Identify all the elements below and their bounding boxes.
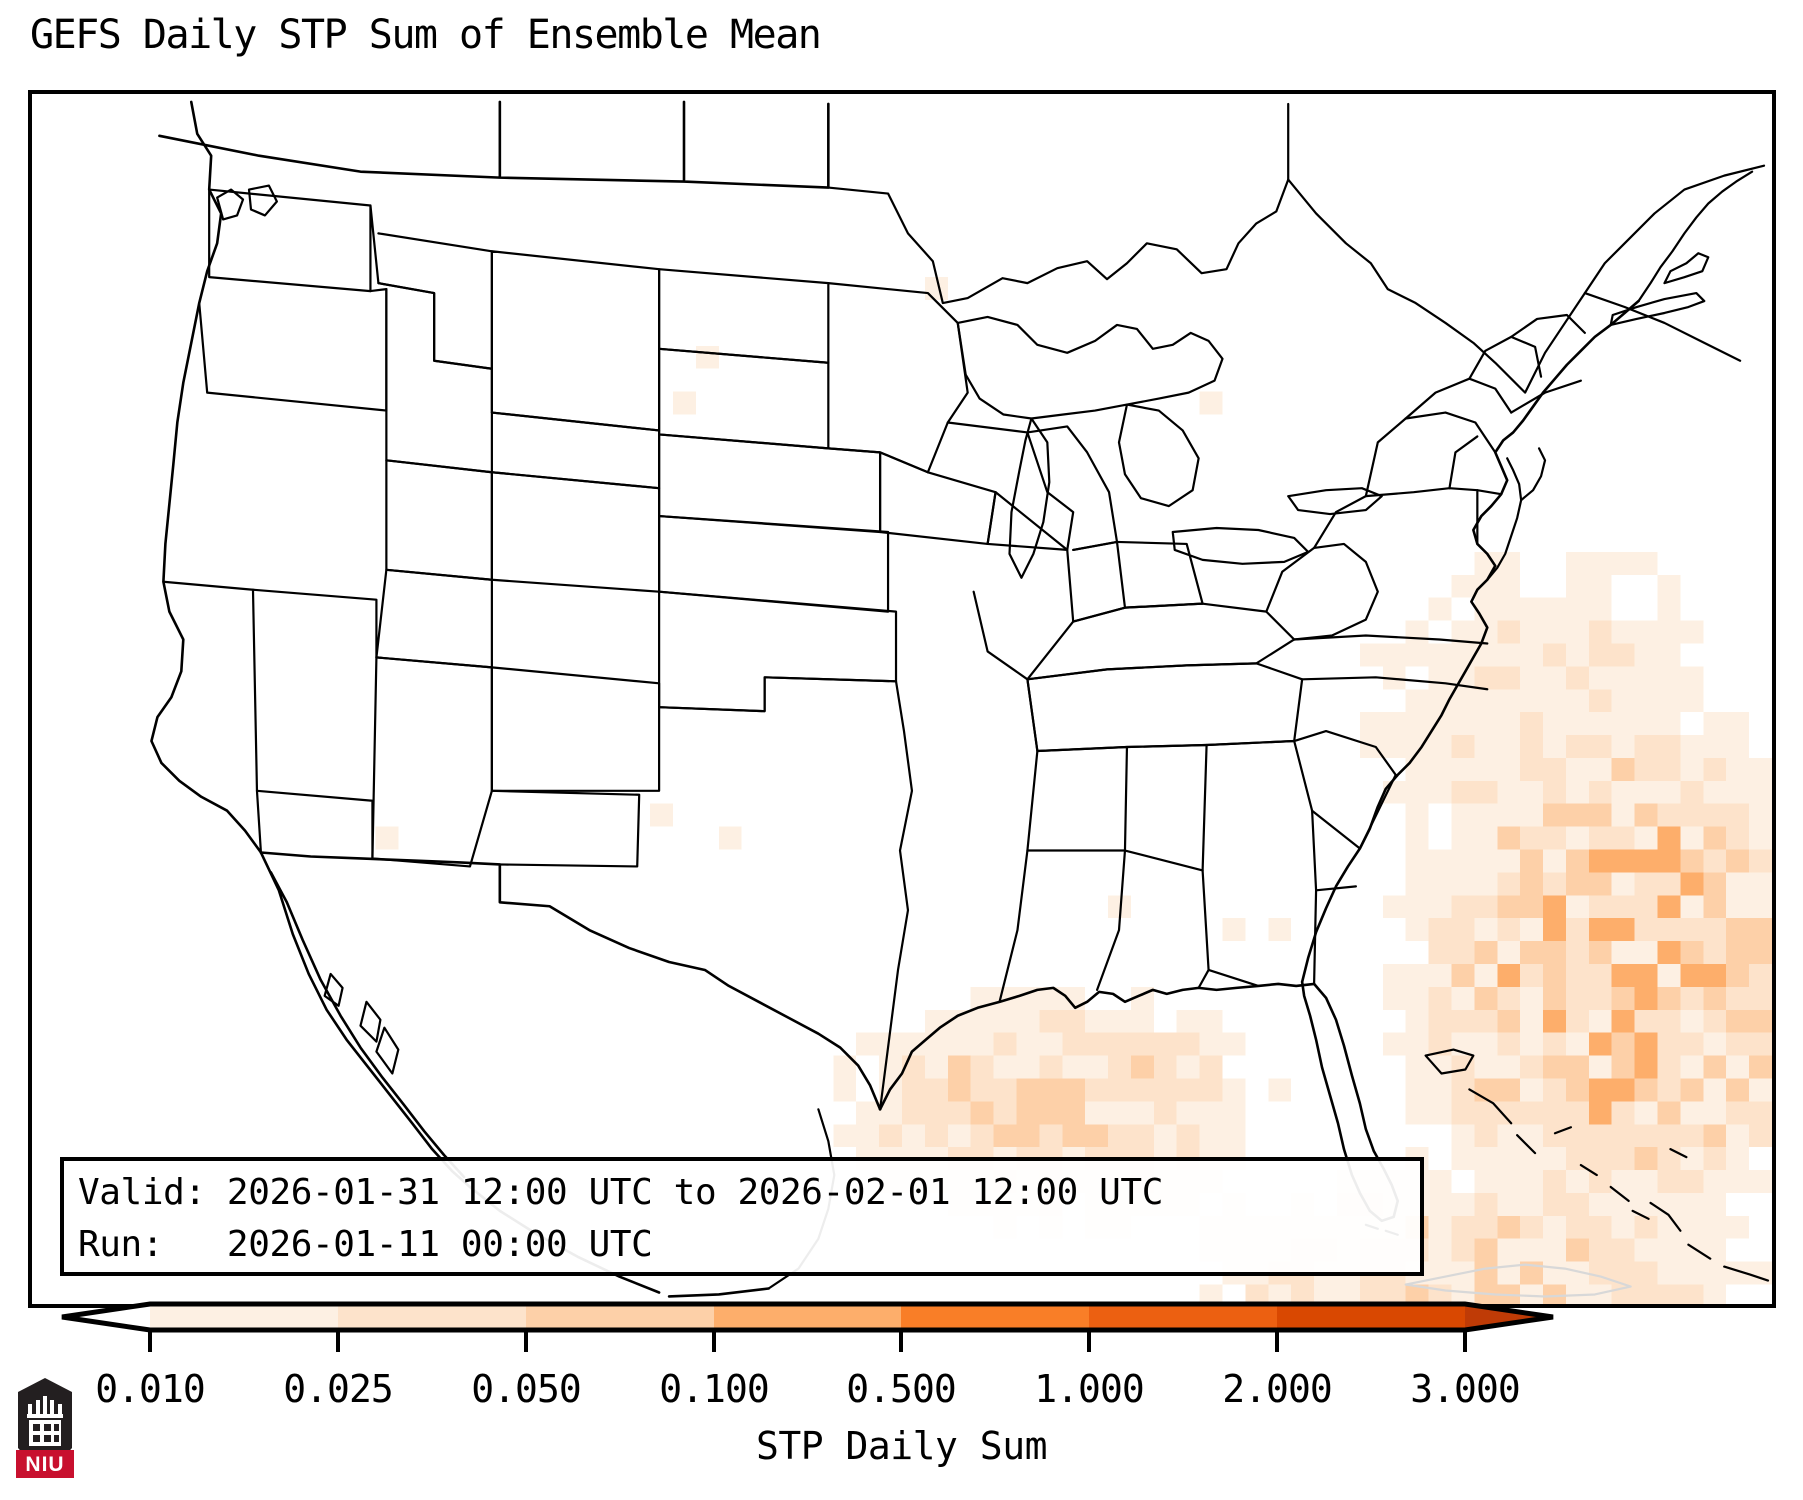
colorbar-tick-label: 0.100 [659, 1367, 768, 1411]
run-time-line: Run: 2026-01-11 00:00 UTC [78, 1219, 1406, 1271]
colorbar-band [714, 1304, 901, 1330]
logo-text: NIU [25, 1453, 64, 1476]
colorbar-tick-labels: 0.0100.0250.0500.1000.5001.0002.0003.000 [0, 1367, 1803, 1417]
colorbar-tick-label: 1.000 [1034, 1367, 1143, 1411]
map-clip [32, 94, 1772, 1304]
colorbar-tick-label: 2.000 [1222, 1367, 1331, 1411]
colorbar-band [338, 1304, 526, 1330]
niu-logo: NIU [14, 1374, 76, 1482]
colorbar-band [526, 1304, 714, 1330]
colorbar-axis-label: STP Daily Sum [0, 1424, 1803, 1468]
page-title: GEFS Daily STP Sum of Ensemble Mean [30, 12, 820, 58]
colorbar-band [1277, 1304, 1465, 1330]
valid-time-line: Valid: 2026-01-31 12:00 UTC to 2026-02-0… [78, 1167, 1406, 1219]
geography-layer [32, 94, 1772, 1304]
colorbar-band [901, 1304, 1089, 1330]
forecast-info-box: Valid: 2026-01-31 12:00 UTC to 2026-02-0… [60, 1157, 1424, 1276]
colorbar [0, 1300, 1803, 1370]
colorbar-tick-label: 0.010 [95, 1367, 204, 1411]
colorbar-tick-label: 0.500 [846, 1367, 955, 1411]
colorbar-tick-label: 0.025 [283, 1367, 392, 1411]
colorbar-tick-label: 0.050 [471, 1367, 580, 1411]
colorbar-tick-label: 3.000 [1410, 1367, 1519, 1411]
colorbar-band [150, 1304, 338, 1330]
colorbar-band [1089, 1304, 1277, 1330]
map-panel [28, 90, 1776, 1308]
